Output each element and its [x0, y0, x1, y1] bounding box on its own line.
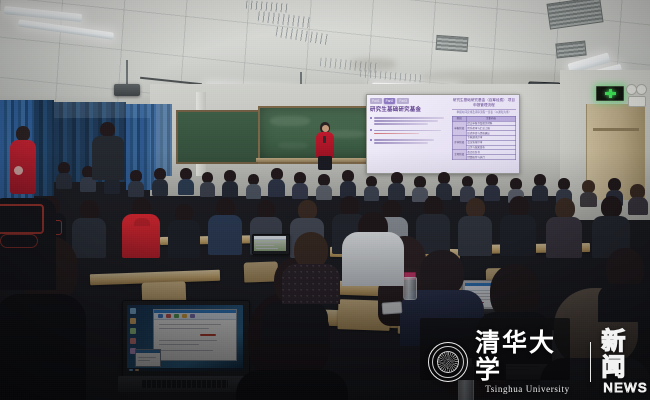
taskbar-icon[interactable]	[135, 369, 139, 371]
audience-member	[168, 204, 200, 256]
slide-text-line	[374, 117, 445, 119]
desktop-icon[interactable]	[130, 338, 136, 344]
doc-text-line	[159, 344, 199, 345]
slide-td-item: 经费拨付与执行	[466, 155, 515, 160]
torso	[316, 185, 332, 200]
doc-text-line	[159, 340, 217, 341]
torso	[200, 182, 215, 197]
torso	[364, 186, 379, 201]
slide-right-subheading: 申报时间安排及评审流程一览表（以通知为准）	[452, 111, 516, 114]
torso	[236, 370, 348, 400]
torso	[246, 184, 261, 199]
keyboard-keys[interactable]	[142, 380, 228, 388]
head	[466, 198, 485, 218]
audience-member-red-hoodie	[122, 198, 160, 256]
wall-switch-panel[interactable]	[628, 96, 646, 107]
audience-member	[56, 162, 72, 188]
torso	[152, 179, 168, 196]
smartphone[interactable]	[382, 301, 403, 314]
projection-screen: Part1 Part2 Part3 研究生基础研究基金	[366, 94, 520, 174]
slide-tab-part2: Part2	[384, 98, 396, 104]
audience-member-patterned	[282, 232, 340, 302]
slide-td-stage: 评审阶段	[452, 136, 466, 150]
water-bottle-pink[interactable]	[402, 272, 416, 298]
laptop-screen	[127, 305, 243, 371]
torso	[292, 183, 308, 199]
head	[601, 196, 622, 218]
head	[424, 196, 443, 216]
slide-right-heading: 研究生基础研究基金（自筹经费） 项目申报管理流程	[452, 98, 516, 110]
doc-text-line	[256, 245, 274, 246]
slide-left-column: Part1 Part2 Part3 研究生基础研究基金	[370, 98, 449, 170]
slide-text-line-highlight	[374, 133, 419, 135]
audience-member	[388, 172, 405, 199]
air-vent	[555, 40, 586, 58]
torso	[500, 215, 536, 256]
projector-mount	[126, 60, 128, 86]
bullet-dot-icon	[370, 129, 372, 131]
dialog-text-line	[138, 357, 156, 358]
slide-title: 研究生基础研究基金	[370, 107, 449, 114]
torso	[598, 284, 650, 322]
audience-member-standing	[92, 122, 124, 180]
air-vent	[436, 35, 469, 52]
ribbon-icon[interactable]	[166, 314, 171, 318]
ribbon-icon[interactable]	[182, 314, 187, 318]
torso	[128, 181, 144, 197]
torso	[92, 136, 124, 180]
head	[509, 196, 529, 217]
audience-member	[268, 168, 285, 196]
desktop-icon[interactable]	[130, 318, 136, 324]
audience-member	[592, 196, 630, 256]
torso	[628, 197, 648, 215]
chalkboard-left-panel	[176, 110, 262, 164]
slide-td-stage: 申报阶段	[452, 121, 466, 135]
doc-text-line	[159, 350, 213, 351]
presenter	[314, 122, 336, 170]
blue-jacket	[208, 215, 242, 255]
slide-text-line	[374, 123, 428, 125]
head	[555, 198, 575, 219]
head	[100, 122, 115, 137]
audience-member	[178, 168, 194, 194]
bottle-body	[403, 277, 417, 300]
slide-text-line	[374, 142, 428, 144]
shirt-graphic	[0, 204, 44, 234]
doc-text-line-highlight	[200, 334, 216, 336]
audience-member	[484, 174, 500, 200]
bullet-dot-icon	[370, 139, 372, 141]
wall-fixture	[636, 84, 647, 95]
presenter-face	[322, 125, 329, 132]
desktop-icon[interactable]	[130, 328, 136, 334]
projector	[114, 84, 140, 96]
lecture-hall-photo: Part1 Part2 Part3 研究生基础研究基金	[0, 0, 650, 400]
watermark-backdrop	[420, 318, 570, 380]
slide-bullet	[370, 128, 449, 135]
exit-cross-icon	[605, 89, 616, 98]
microphone-icon	[323, 136, 326, 143]
ribbon-icon[interactable]	[190, 314, 195, 318]
taskbar[interactable]	[127, 368, 243, 371]
presentation-slide: Part1 Part2 Part3 研究生基础研究基金	[370, 98, 516, 170]
head	[294, 232, 328, 268]
slide-tab-part3: Part3	[397, 98, 409, 104]
audience-member	[458, 198, 492, 254]
chalk-smudge	[270, 116, 310, 126]
doc-text-line	[256, 248, 278, 249]
audience-member-standing-red	[10, 126, 36, 196]
torso	[168, 220, 200, 258]
audience-member	[598, 248, 650, 318]
audience-member	[222, 170, 238, 196]
audience-member	[364, 176, 379, 200]
ribbon-icon[interactable]	[158, 314, 163, 318]
dialog-text-line	[138, 360, 150, 361]
doc-text-line	[159, 324, 221, 325]
slide-text-line	[374, 120, 439, 122]
audience-member	[546, 198, 582, 256]
audience-member-white-shirt	[342, 228, 404, 288]
slide-bullet	[370, 138, 449, 145]
doc-text-line	[256, 242, 280, 243]
audience-member	[340, 170, 356, 197]
torso	[0, 294, 86, 400]
torso	[222, 181, 238, 197]
torso	[56, 173, 72, 189]
head	[340, 196, 359, 216]
small-dialog[interactable]	[135, 349, 161, 367]
shirt-graphic-sub	[0, 234, 38, 248]
slide-bullet	[370, 116, 449, 126]
torso	[178, 179, 194, 195]
head	[80, 200, 99, 220]
presenter-lower	[318, 156, 332, 170]
window-curtain-mid	[156, 104, 172, 176]
audience-member	[200, 172, 215, 196]
app-ribbon[interactable]	[154, 313, 236, 320]
slide-right-column: 研究生基础研究基金（自筹经费） 项目申报管理流程 申报时间安排及评审流程一览表（…	[452, 98, 516, 170]
head	[16, 126, 30, 141]
audience-member	[292, 172, 308, 198]
audience-member	[246, 174, 261, 198]
hood	[134, 218, 150, 226]
slide-td-stage: 立项阶段	[452, 150, 466, 160]
window-curtain-left	[34, 100, 54, 196]
torso	[262, 302, 328, 344]
patterned-sweater	[282, 264, 340, 304]
audience-member	[628, 184, 648, 214]
slide-table: 阶段 主要内容 申报阶段 提交申报书及相关材料 院系初审与汇总上报 形式审查与资…	[452, 116, 516, 160]
torso	[388, 183, 405, 200]
white-shirt	[342, 232, 404, 286]
slide-part-tabs: Part1 Part2 Part3	[370, 98, 449, 104]
jacket-logo	[14, 166, 23, 175]
slide-text-line	[374, 130, 442, 132]
foreground-person-graphic-shirt	[0, 198, 56, 290]
desktop-icon[interactable]	[130, 308, 136, 314]
torso	[546, 217, 582, 258]
chalk-smudge	[278, 142, 308, 149]
audience-member	[316, 174, 332, 199]
laptop-foreground-left[interactable]	[122, 300, 248, 394]
audience-member	[152, 168, 168, 195]
head	[298, 200, 317, 220]
bullet-dot-icon	[370, 117, 372, 119]
audience-member	[208, 198, 242, 254]
torso	[268, 179, 285, 197]
document-window[interactable]	[153, 309, 237, 361]
slide-tab-part1: Part1	[370, 98, 382, 104]
slide-text-line	[374, 139, 434, 141]
doc-text-line	[159, 328, 209, 329]
taskbar-icon[interactable]	[129, 369, 133, 371]
ribbon-icon[interactable]	[174, 314, 179, 318]
audience-member	[500, 196, 536, 254]
audience-member	[436, 172, 452, 199]
exit-sign	[596, 86, 624, 101]
audience-member	[128, 170, 144, 196]
dialog-titlebar[interactable]	[136, 350, 160, 353]
